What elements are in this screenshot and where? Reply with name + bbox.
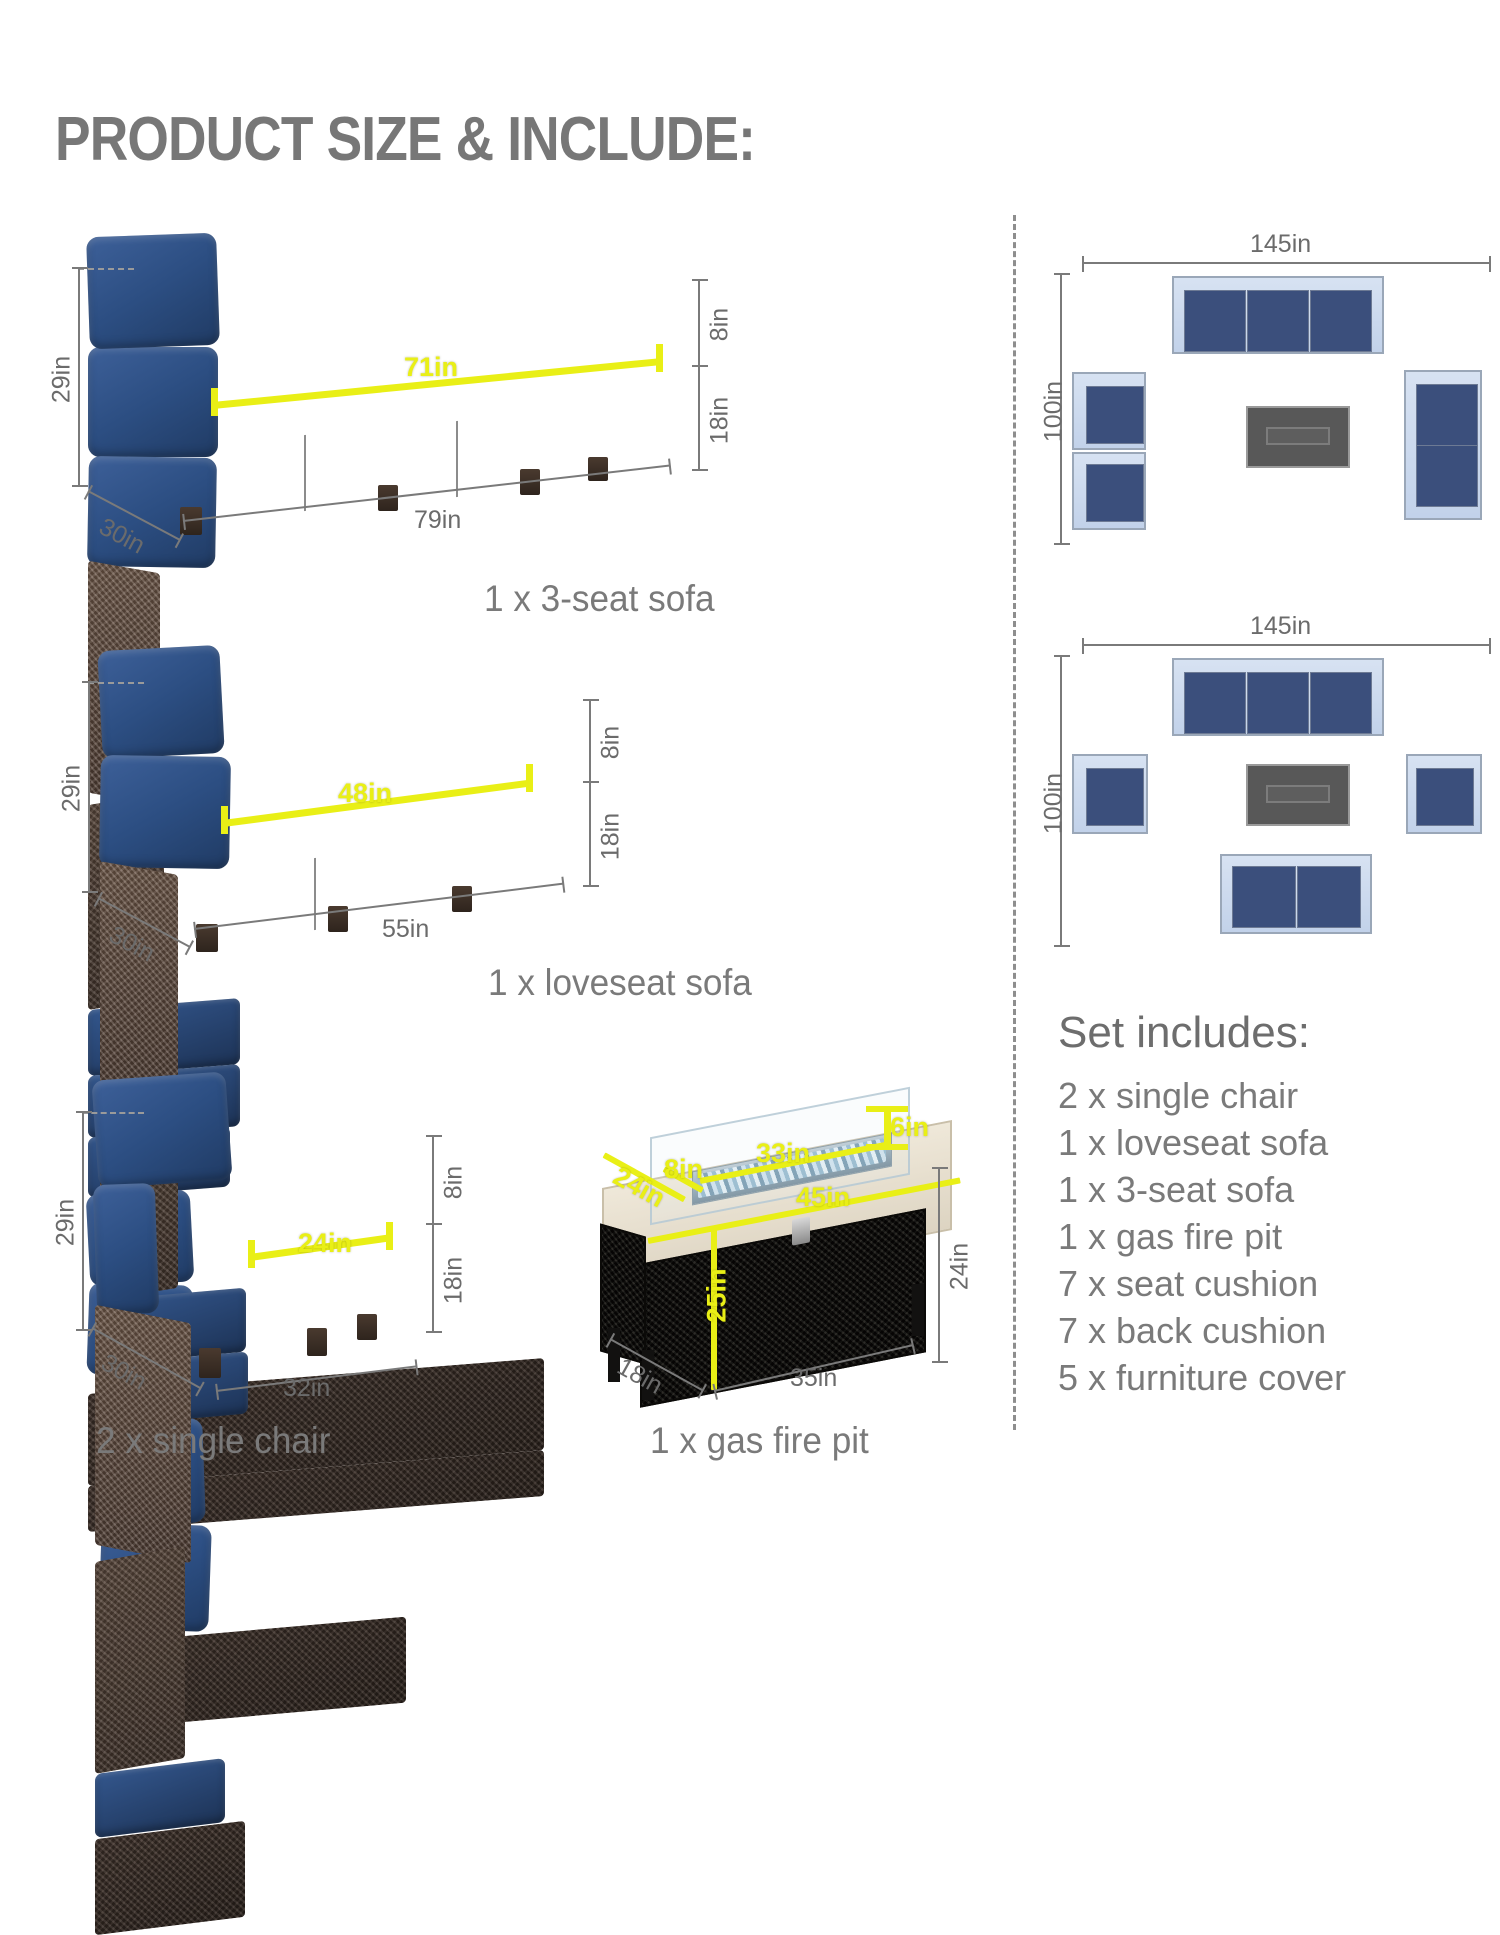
fire-pit-leg: [912, 1284, 924, 1336]
dimension-label-layout-depth: 100in: [1040, 754, 1069, 854]
dimension-label-burner-length: 33in: [756, 1138, 810, 1169]
caption-gas-fire-pit: 1 x gas fire pit: [650, 1420, 869, 1462]
chair-base: [95, 1821, 245, 1935]
set-includes-heading: Set includes:: [1058, 1008, 1310, 1058]
dimension-label-back-cushion: 8in: [597, 707, 626, 779]
dimension-label-layout-width: 145in: [1250, 230, 1311, 259]
list-item: 5 x furniture cover: [1058, 1354, 1346, 1401]
loveseat-sofa-illustration: [100, 648, 570, 938]
back-cushion: [99, 755, 231, 869]
plan-seat: [1184, 672, 1246, 734]
single-chair-illustration: [95, 1076, 435, 1376]
plan-seat: [1310, 672, 1372, 734]
list-item: 1 x loveseat sofa: [1058, 1119, 1346, 1166]
dimension-label-back-cushion: 8in: [706, 289, 735, 361]
base-seam: [304, 435, 306, 511]
plan-single-chair: [1406, 754, 1482, 834]
chair-right-arm: [95, 1546, 185, 1774]
dimension-label-width: 32in: [283, 1374, 330, 1403]
chair-foot: [307, 1328, 327, 1356]
dimension-label-height: 29in: [52, 1183, 81, 1263]
plan-single-chair: [1072, 452, 1146, 530]
ignition-knob: [792, 1216, 810, 1245]
dimension-label-width: 79in: [414, 506, 461, 535]
dimension-cap: [248, 1240, 255, 1268]
plan-gas-fire-pit: [1246, 406, 1350, 468]
dimension-line-layout-width: [1082, 262, 1490, 264]
dimension-line-height: [88, 682, 90, 892]
dimension-label-seat-height: 18in: [706, 385, 735, 457]
list-item: 1 x 3-seat sofa: [1058, 1166, 1346, 1213]
layout-plan-1: 145in 100in: [1060, 230, 1490, 560]
dimension-line-seat-height: [432, 1224, 434, 1332]
caption-loveseat-sofa: 1 x loveseat sofa: [488, 962, 752, 1004]
back-cushion: [91, 1071, 232, 1188]
plan-seat: [1247, 290, 1309, 352]
dimension-label-height: 29in: [58, 749, 87, 829]
dimension-label-layout-depth: 100in: [1040, 362, 1069, 462]
base-seam: [314, 858, 316, 930]
dimension-label-back-cushion: 8in: [440, 1147, 469, 1219]
plan-seat: [1297, 866, 1361, 928]
infographic-page: PRODUCT SIZE & INCLUDE: 7: [0, 0, 1500, 1466]
dimension-label-base-width: 35in: [790, 1364, 837, 1393]
dimension-line-seat-height: [589, 782, 591, 886]
plan-loveseat-sofa: [1220, 854, 1372, 934]
sofa-foot: [588, 457, 608, 481]
dimension-cap: [866, 1106, 908, 1112]
dimension-label-seat-width: 48in: [338, 778, 392, 809]
dimension-cap: [526, 764, 533, 792]
chair-foot: [199, 1348, 221, 1378]
plan-gas-fire-pit: [1246, 764, 1350, 826]
list-item: 2 x single chair: [1058, 1072, 1346, 1119]
plan-seat: [1086, 768, 1144, 826]
dimension-cap: [211, 388, 218, 416]
chair-foot: [357, 1314, 377, 1340]
dimension-line-back-cushion: [432, 1136, 434, 1224]
back-cushion: [97, 645, 224, 759]
plan-seat: [1310, 290, 1372, 352]
dimension-line-back-cushion: [698, 280, 700, 366]
list-item: 7 x seat cushion: [1058, 1260, 1346, 1307]
plan-seat: [1247, 672, 1309, 734]
dimension-line-back-cushion: [589, 700, 591, 782]
back-cushion: [93, 1183, 159, 1315]
dimension-line-layout-width: [1082, 644, 1490, 646]
dimension-label-seat-height: 18in: [597, 801, 626, 873]
dimension-line-height: [78, 268, 80, 486]
plan-loveseat-sofa: [1404, 370, 1482, 520]
plan-seat: [1232, 866, 1296, 928]
dimension-label-width: 55in: [382, 915, 429, 944]
dimension-cap: [221, 806, 228, 834]
dimension-line-height: [82, 1112, 84, 1330]
list-item: 7 x back cushion: [1058, 1307, 1346, 1354]
plan-single-chair: [1072, 372, 1146, 450]
section-divider: [1013, 215, 1016, 1430]
caption-single-chair: 2 x single chair: [96, 1420, 330, 1462]
dimension-label-burner-width: 8in: [664, 1154, 703, 1185]
plan-three-seat-sofa: [1172, 276, 1384, 354]
dimension-label-body-height: 25in: [702, 1263, 733, 1329]
plan-three-seat-sofa: [1172, 658, 1384, 736]
dimension-label-top-width: 45in: [796, 1182, 850, 1213]
plan-single-chair: [1072, 754, 1148, 834]
plan-seat: [1086, 386, 1144, 444]
plan-seat: [1416, 768, 1474, 826]
back-cushion: [88, 347, 218, 457]
plan-seat: [1184, 290, 1246, 352]
base-seam: [456, 421, 458, 497]
layout-plan-2: 145in 100in: [1060, 612, 1490, 962]
plan-fire-pit-burner: [1266, 785, 1330, 803]
plan-fire-pit-burner: [1266, 427, 1330, 445]
plan-seat: [1086, 464, 1144, 522]
plan-seat: [1416, 384, 1478, 446]
dimension-label-glass-height: 6in: [890, 1112, 929, 1143]
list-item: 1 x gas fire pit: [1058, 1213, 1346, 1260]
loveseat-foot: [452, 886, 472, 912]
dimension-label-layout-width: 145in: [1250, 612, 1311, 641]
set-includes-list: 2 x single chair 1 x loveseat sofa 1 x 3…: [1058, 1072, 1346, 1401]
dimension-label-seat-height: 18in: [440, 1245, 469, 1317]
loveseat-left-arm: [100, 861, 178, 1101]
dimension-cap: [656, 344, 663, 372]
dimension-line-total-height: [938, 1168, 940, 1362]
caption-three-seat-sofa: 1 x 3-seat sofa: [484, 578, 715, 620]
dimension-label-height: 29in: [48, 340, 77, 420]
page-title: PRODUCT SIZE & INCLUDE:: [55, 104, 755, 175]
dimension-cap: [386, 1222, 393, 1250]
dimension-label-seat-width: 24in: [298, 1228, 352, 1259]
dimension-label-total-height: 24in: [946, 1231, 975, 1303]
plan-seat: [1416, 445, 1478, 507]
back-cushion: [86, 233, 220, 349]
dimension-line-seat-height: [698, 366, 700, 470]
dimension-label-seat-width: 71in: [404, 352, 458, 383]
